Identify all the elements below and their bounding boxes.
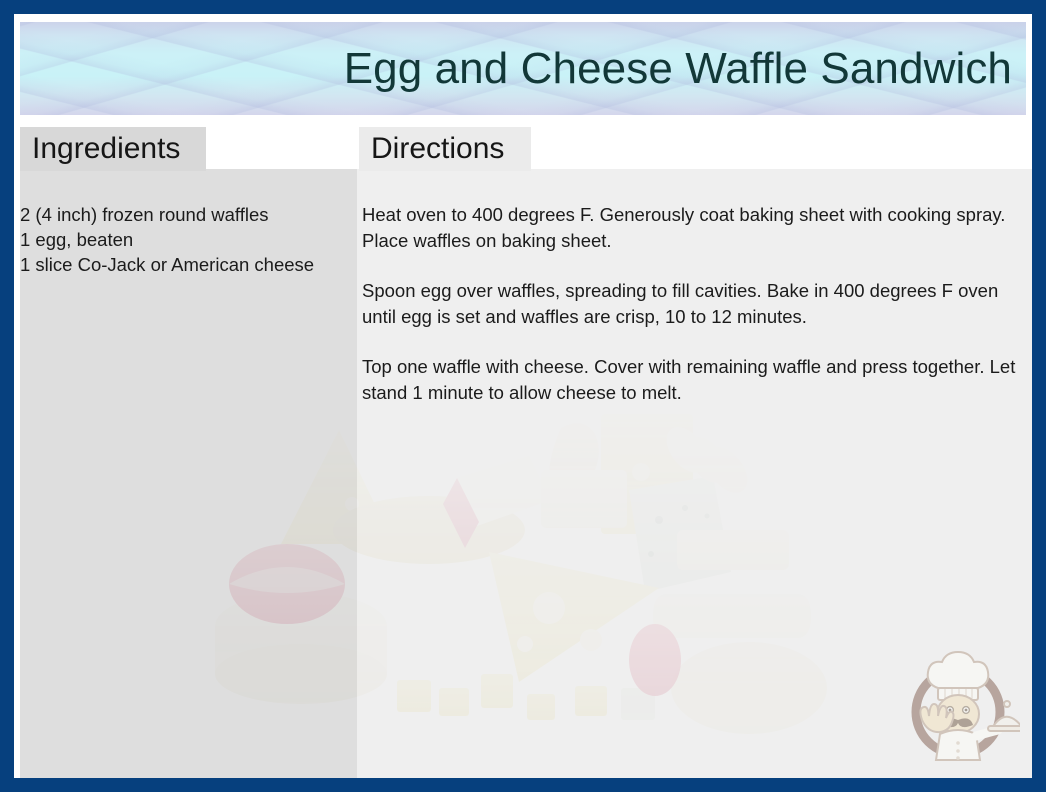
page-title: Egg and Cheese Waffle Sandwich (344, 45, 1012, 91)
directions-section-header: Directions (359, 127, 531, 171)
directions-steps: Heat oven to 400 degrees F. Generously c… (362, 202, 1022, 405)
recipe-slide: Egg and Cheese Waffle Sandwich (0, 0, 1046, 792)
direction-step: Spoon egg over waffles, spreading to fil… (362, 278, 1022, 329)
slide-canvas: Egg and Cheese Waffle Sandwich (14, 14, 1032, 778)
direction-step: Heat oven to 400 degrees F. Generously c… (362, 202, 1022, 253)
title-bar: Egg and Cheese Waffle Sandwich (20, 22, 1026, 115)
directions-header-label: Directions (371, 132, 504, 166)
list-item: 2 (4 inch) frozen round waffles (20, 202, 342, 227)
ingredients-header-label: Ingredients (32, 132, 180, 166)
ingredients-list: 2 (4 inch) frozen round waffles 1 egg, b… (20, 202, 342, 277)
direction-step: Top one waffle with cheese. Cover with r… (362, 354, 1022, 405)
chef-with-cloche-logo (900, 648, 1020, 768)
list-item: 1 egg, beaten (20, 227, 342, 252)
list-item: 1 slice Co-Jack or American cheese (20, 252, 342, 277)
ingredients-section-header: Ingredients (20, 127, 206, 171)
